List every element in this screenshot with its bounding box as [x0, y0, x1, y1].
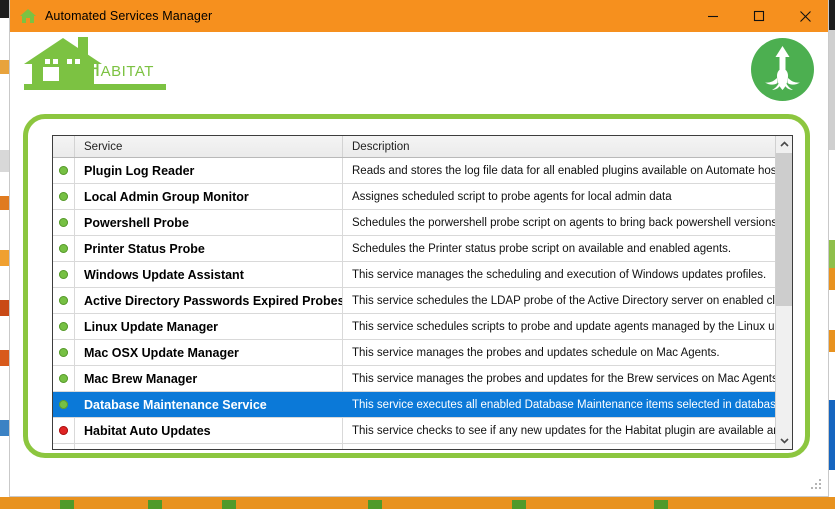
service-name-cell: Printer Status Probe — [75, 236, 343, 261]
service-name-cell: Mac Brew Manager — [75, 366, 343, 391]
maximize-button[interactable] — [736, 0, 782, 32]
scroll-up-button[interactable] — [776, 136, 792, 153]
service-description-cell: This service schedules scripts to probe … — [343, 314, 775, 339]
status-dot-green-icon — [59, 192, 68, 201]
table-row[interactable]: Windows Update AssistantThis service man… — [53, 262, 775, 288]
status-indicator-cell — [53, 314, 75, 339]
services-panel: Service Description Plugin Log ReaderRea… — [23, 114, 810, 458]
table-row[interactable]: Plugin Log ReaderReads and stores the lo… — [53, 158, 775, 184]
application-window: Automated Services Manager Hab — [9, 0, 829, 497]
automate-squid-icon — [751, 38, 814, 101]
table-row[interactable]: Mac OSX Update ManagerThis service manag… — [53, 340, 775, 366]
habitat-logo-text: Habitat — [85, 58, 154, 82]
service-name-cell: Habitat Auto Updates — [75, 418, 343, 443]
grid-body: Plugin Log ReaderReads and stores the lo… — [53, 158, 775, 449]
status-dot-green-icon — [59, 244, 68, 253]
table-row[interactable]: Printer Status ProbeSchedules the Printe… — [53, 236, 775, 262]
service-description-cell: This service manages the probes and upda… — [343, 366, 775, 391]
service-name-cell: Database Maintenance Service — [75, 392, 343, 417]
service-description-cell: This service schedules the LDAP probe of… — [343, 288, 775, 313]
service-description-cell: Schedules the Printer status probe scrip… — [343, 236, 775, 261]
services-grid[interactable]: Service Description Plugin Log ReaderRea… — [52, 135, 793, 450]
close-button[interactable] — [782, 0, 828, 32]
service-description-cell: Schedules the porwershell probe script o… — [343, 210, 775, 235]
service-description-cell: Assignes scheduled script to probe agent… — [343, 184, 775, 209]
status-indicator-cell — [53, 340, 75, 365]
status-dot-green-icon — [59, 374, 68, 383]
grid-vertical-scrollbar[interactable] — [775, 136, 792, 449]
table-row[interactable]: Habitat Auto UpdatesThis service checks … — [53, 418, 775, 444]
status-indicator-cell — [53, 236, 75, 261]
status-indicator-cell — [53, 262, 75, 287]
status-dot-green-icon — [59, 400, 68, 409]
service-description-cell: Reads and stores the log file data for a… — [343, 158, 775, 183]
table-row[interactable]: Mac Brew ManagerThis service manages the… — [53, 366, 775, 392]
service-name-cell: Powershell Probe — [75, 210, 343, 235]
status-indicator-cell — [53, 288, 75, 313]
status-dot-red-icon — [59, 426, 68, 435]
window-controls — [690, 0, 828, 32]
status-indicator-cell — [53, 184, 75, 209]
header-status-column — [53, 136, 75, 157]
scroll-down-button[interactable] — [776, 432, 792, 449]
status-indicator-cell — [53, 366, 75, 391]
status-indicator-cell — [53, 418, 75, 443]
table-row[interactable]: Powershell ProbeSchedules the porwershel… — [53, 210, 775, 236]
table-row[interactable]: Linux Update ManagerThis service schedul… — [53, 314, 775, 340]
service-name-cell: Windows Update Assistant — [75, 262, 343, 287]
resize-grip[interactable] — [811, 479, 823, 491]
background-strip-right — [829, 0, 835, 509]
service-name-cell: Local Admin Group Monitor — [75, 184, 343, 209]
status-dot-green-icon — [59, 348, 68, 357]
status-dot-green-icon — [59, 296, 68, 305]
table-row[interactable]: Local Admin Group MonitorAssignes schedu… — [53, 184, 775, 210]
minimize-button[interactable] — [690, 0, 736, 32]
service-description-cell: This service checks to see if any new up… — [343, 418, 775, 443]
service-description-cell: This service executes all enabled Databa… — [343, 392, 775, 417]
header-service-column[interactable]: Service — [75, 136, 343, 157]
status-dot-green-icon — [59, 270, 68, 279]
grid-header-row: Service Description — [53, 136, 775, 158]
window-title: Automated Services Manager — [45, 9, 212, 23]
house-icon — [20, 8, 36, 24]
service-name-cell: Plugin Log Reader — [75, 158, 343, 183]
service-name-cell: Active Directory Passwords Expired Probe… — [75, 288, 343, 313]
status-dot-green-icon — [59, 166, 68, 175]
status-indicator-cell — [53, 392, 75, 417]
service-description-cell — [343, 444, 775, 450]
header-description-column[interactable]: Description — [343, 136, 775, 157]
scrollbar-thumb[interactable] — [776, 153, 792, 306]
status-indicator-cell — [53, 210, 75, 235]
service-description-cell: This service manages the scheduling and … — [343, 262, 775, 287]
brand-header: Habitat — [10, 32, 828, 108]
service-name-cell: Linux Update Manager — [75, 314, 343, 339]
table-row[interactable]: Database Maintenance ServiceThis service… — [53, 392, 775, 418]
service-description-cell: This service manages the probes and upda… — [343, 340, 775, 365]
status-dot-green-icon — [59, 218, 68, 227]
title-bar: Automated Services Manager — [10, 0, 828, 32]
habitat-house-logo: Habitat — [19, 34, 169, 96]
background-strip-left — [0, 0, 9, 509]
table-row[interactable]: Active Directory Passwords Expired Probe… — [53, 288, 775, 314]
service-name-cell: Mac OSX Update Manager — [75, 340, 343, 365]
scrollbar-track[interactable] — [776, 153, 792, 432]
status-indicator-cell — [53, 444, 75, 450]
service-name-cell — [75, 444, 343, 450]
table-row-empty — [53, 444, 775, 450]
background-strip-bottom — [0, 497, 835, 509]
status-indicator-cell — [53, 158, 75, 183]
status-dot-green-icon — [59, 322, 68, 331]
